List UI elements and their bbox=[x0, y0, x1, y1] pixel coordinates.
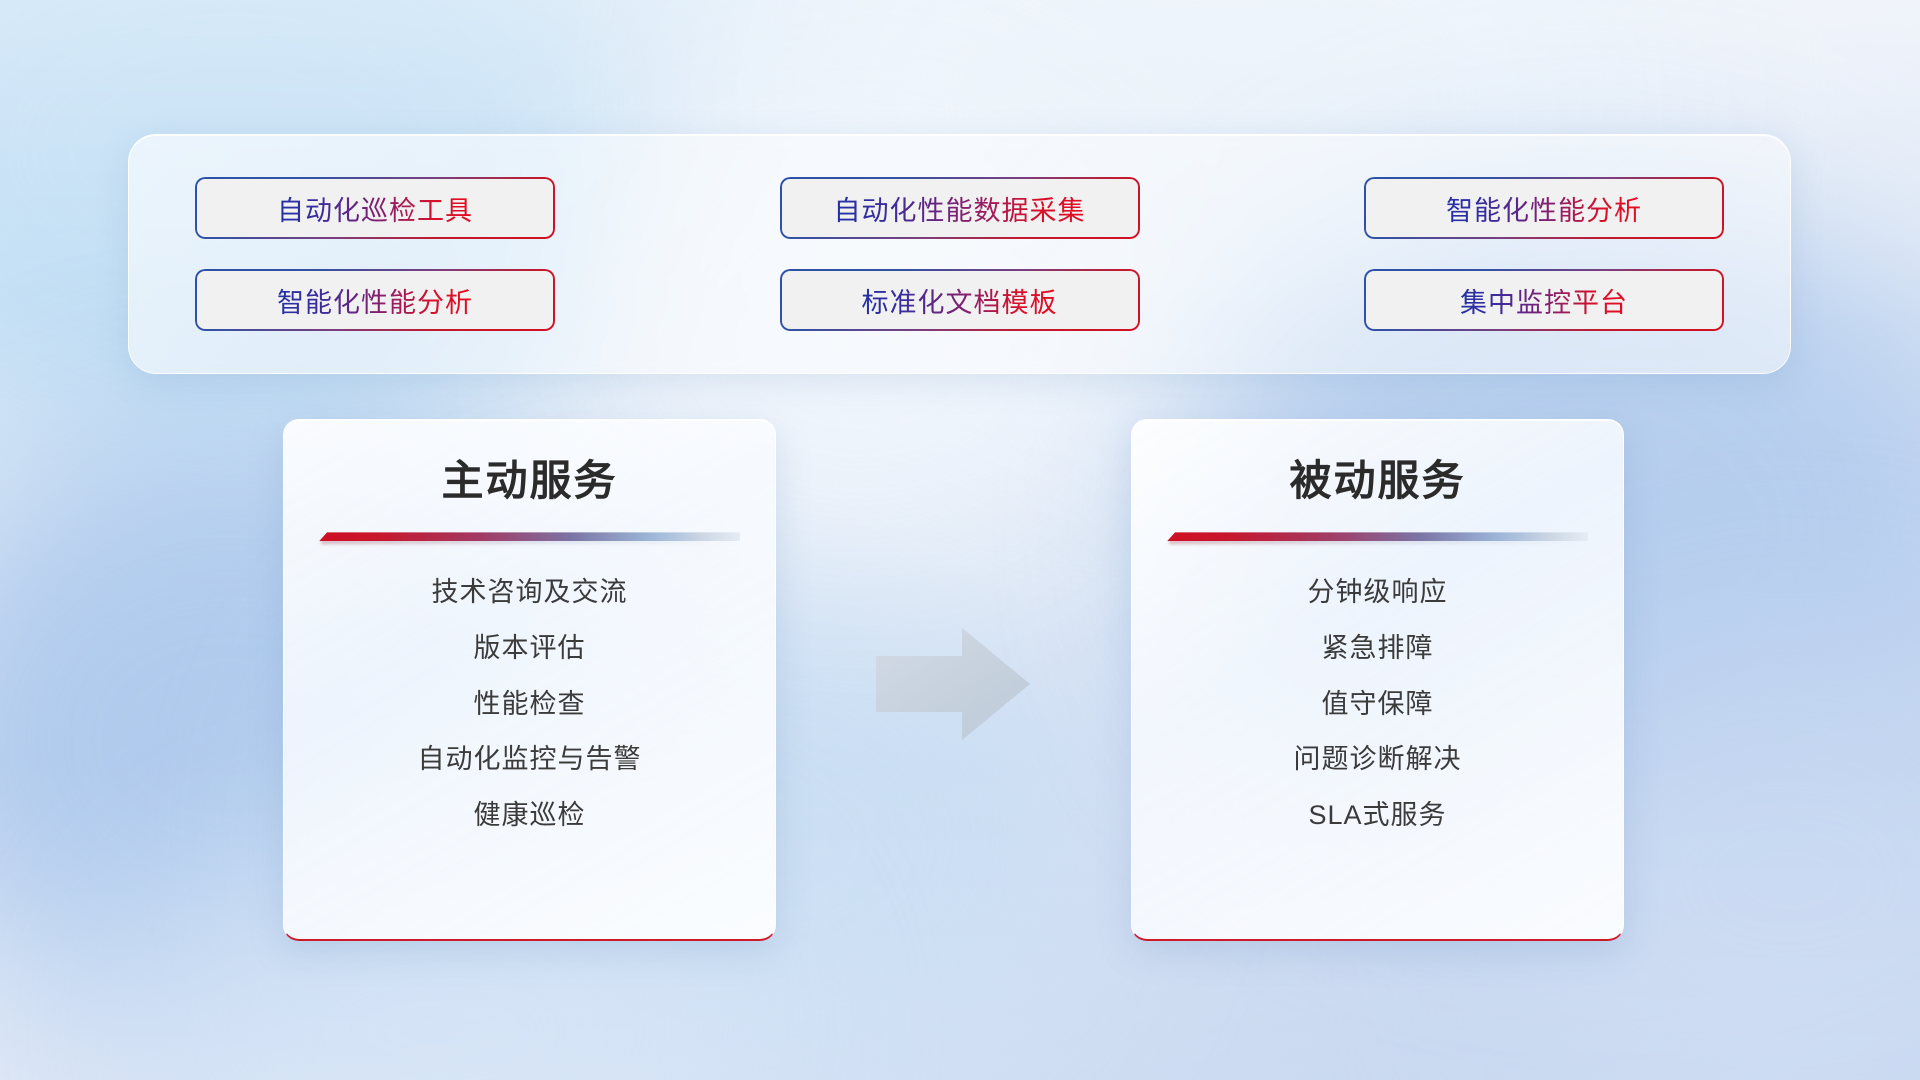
service-item: SLA式服务 bbox=[1162, 801, 1593, 831]
capability-pill-label: 自动化性能数据采集 bbox=[834, 189, 1086, 228]
capability-pill-label: 智能化性能分析 bbox=[1446, 189, 1642, 228]
capabilities-panel: 自动化巡检工具 自动化性能数据采集 智能化性能分析 智能化性能分析 标准化文档模… bbox=[128, 134, 1791, 374]
service-item: 技术咨询及交流 bbox=[314, 578, 745, 608]
card-divider-bar bbox=[1167, 532, 1588, 541]
capability-pill[interactable]: 智能化性能分析 bbox=[1364, 177, 1724, 239]
card-divider bbox=[1167, 532, 1588, 544]
capability-pill-label: 自动化巡检工具 bbox=[277, 189, 473, 228]
service-item: 健康巡检 bbox=[314, 801, 745, 831]
capability-pill-label: 集中监控平台 bbox=[1460, 281, 1628, 320]
capability-pill-label: 标准化文档模板 bbox=[862, 281, 1058, 320]
service-card-passive: 被动服务 分钟级响应 紧急排障 值守保障 问题诊断解决 SLA式服务 bbox=[1131, 419, 1624, 941]
capabilities-row-2: 智能化性能分析 标准化文档模板 集中监控平台 bbox=[195, 269, 1724, 331]
service-card-title: 被动服务 bbox=[1162, 456, 1593, 506]
service-item: 版本评估 bbox=[314, 634, 745, 664]
capability-pill[interactable]: 标准化文档模板 bbox=[780, 269, 1140, 331]
service-card-active: 主动服务 技术咨询及交流 版本评估 性能检查 自动化监控与告警 健康巡检 bbox=[283, 419, 776, 941]
service-card-title: 主动服务 bbox=[314, 456, 745, 506]
service-item: 问题诊断解决 bbox=[1162, 745, 1593, 775]
capability-pill[interactable]: 自动化巡检工具 bbox=[195, 177, 555, 239]
capabilities-row-1: 自动化巡检工具 自动化性能数据采集 智能化性能分析 bbox=[195, 177, 1724, 239]
card-divider-bar bbox=[319, 532, 740, 541]
service-item: 值守保障 bbox=[1162, 690, 1593, 720]
service-item: 紧急排障 bbox=[1162, 634, 1593, 664]
service-item: 性能检查 bbox=[314, 690, 745, 720]
service-item-list: 技术咨询及交流 版本评估 性能检查 自动化监控与告警 健康巡检 bbox=[314, 578, 745, 830]
capability-pill[interactable]: 智能化性能分析 bbox=[195, 269, 555, 331]
card-divider bbox=[319, 532, 740, 544]
capability-pill-label: 智能化性能分析 bbox=[277, 281, 473, 320]
capability-pill[interactable]: 自动化性能数据采集 bbox=[780, 177, 1140, 239]
capability-pill[interactable]: 集中监控平台 bbox=[1364, 269, 1724, 331]
service-item: 分钟级响应 bbox=[1162, 578, 1593, 608]
arrow-right-icon bbox=[876, 628, 1030, 740]
service-item: 自动化监控与告警 bbox=[314, 745, 745, 775]
service-item-list: 分钟级响应 紧急排障 值守保障 问题诊断解决 SLA式服务 bbox=[1162, 578, 1593, 830]
